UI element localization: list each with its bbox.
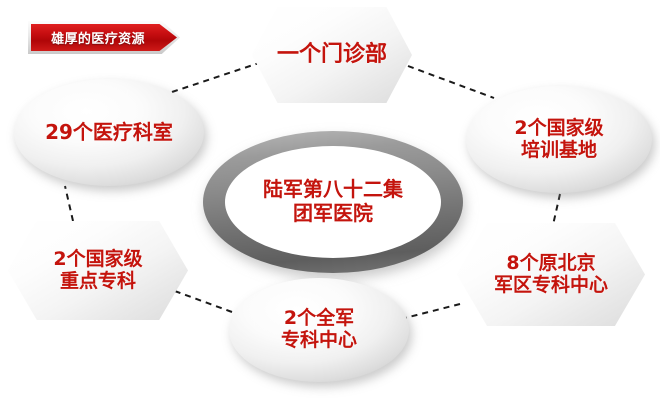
- node-clinic[interactable]: 一个门诊部: [252, 7, 412, 103]
- banner-label: 雄厚的医疗资源: [31, 24, 165, 51]
- connector-training-beijing: [553, 194, 560, 225]
- node-key-specialty-label: 2个国家级 重点专科: [47, 249, 148, 292]
- connector-keyspecialty-departments: [65, 186, 73, 221]
- center-hub: 陆军第八十二集 团军医院: [203, 131, 463, 273]
- infographic-canvas: 雄厚的医疗资源 陆军第八十二集 团军医院 一个门诊部 29个医疗科室 2个国家级…: [0, 0, 660, 401]
- section-banner: 雄厚的医疗资源: [28, 21, 180, 54]
- node-clinic-label: 一个门诊部: [271, 42, 393, 67]
- node-departments[interactable]: 29个医疗科室: [14, 79, 204, 186]
- node-beijing-specialty-center[interactable]: 8个原北京 军区专科中心: [457, 223, 645, 326]
- connector-departments-clinic: [172, 63, 259, 92]
- connector-armycenter-keyspecialty: [172, 290, 232, 312]
- node-army-specialty-center[interactable]: 2个全军 专科中心: [229, 278, 409, 382]
- node-beijing-specialty-center-label: 8个原北京 军区专科中心: [488, 253, 614, 296]
- node-key-specialty[interactable]: 2个国家级 重点专科: [8, 221, 188, 320]
- node-departments-label: 29个医疗科室: [39, 121, 179, 144]
- node-army-specialty-center-label: 2个全军 专科中心: [275, 308, 363, 351]
- center-hub-label: 陆军第八十二集 团军医院: [225, 146, 441, 258]
- node-training-base-label: 2个国家级 培训基地: [508, 118, 609, 161]
- connector-beijing-armycenter: [405, 304, 460, 318]
- connector-clinic-training: [408, 66, 494, 98]
- node-training-base[interactable]: 2个国家级 培训基地: [466, 86, 652, 193]
